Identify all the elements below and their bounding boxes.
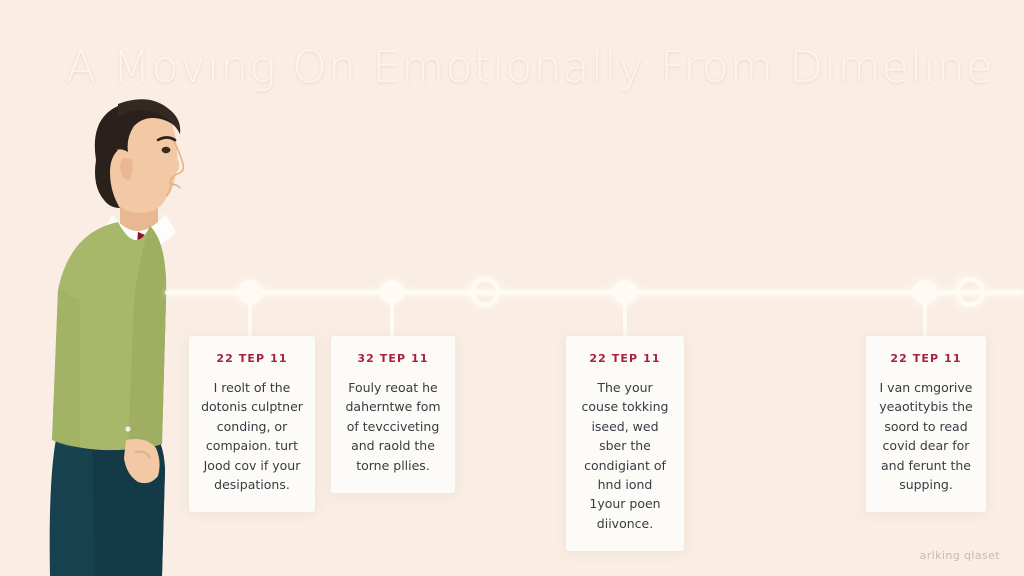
step-label: 22 TEP 11 <box>201 352 303 365</box>
timeline-axis <box>165 290 1024 295</box>
timeline-card-4[interactable]: 22 TEP 11 I van cmgorive yeaotitybis the… <box>866 336 986 512</box>
timeline-node-6[interactable] <box>955 277 985 307</box>
timeline-stem-2 <box>390 292 394 336</box>
timeline-card-1[interactable]: 22 TEP 11 I reolt of the dotonis culptne… <box>189 336 315 512</box>
page-title: A Moving On Emotionally From Dimeline <box>66 42 986 93</box>
timeline-card-2[interactable]: 32 TEP 11 Fouly reoat he daherntwe fom o… <box>331 336 455 493</box>
step-description: I van cmgorive yeaotitybis the soord to … <box>878 378 974 494</box>
timeline-stem-3 <box>623 292 627 336</box>
timeline-stem-4 <box>923 292 927 336</box>
step-label: 22 TEP 11 <box>878 352 974 365</box>
timeline-node-3[interactable] <box>470 277 500 307</box>
timeline-infographic: A Moving On Emotionally From Dimeline 22… <box>0 0 1024 576</box>
step-label: 22 TEP 11 <box>578 352 672 365</box>
timeline-card-3[interactable]: 22 TEP 11 The your couse tokking iseed, … <box>566 336 684 551</box>
step-description: Fouly reoat he daherntwe fom of tevccive… <box>343 378 443 475</box>
step-description: The your couse tokking iseed, wed sber t… <box>578 378 672 533</box>
timeline-stem-1 <box>248 292 252 336</box>
step-description: I reolt of the dotonis culptner conding,… <box>201 378 303 494</box>
watermark-text: arlking qlaset <box>920 549 1000 562</box>
step-label: 32 TEP 11 <box>343 352 443 365</box>
